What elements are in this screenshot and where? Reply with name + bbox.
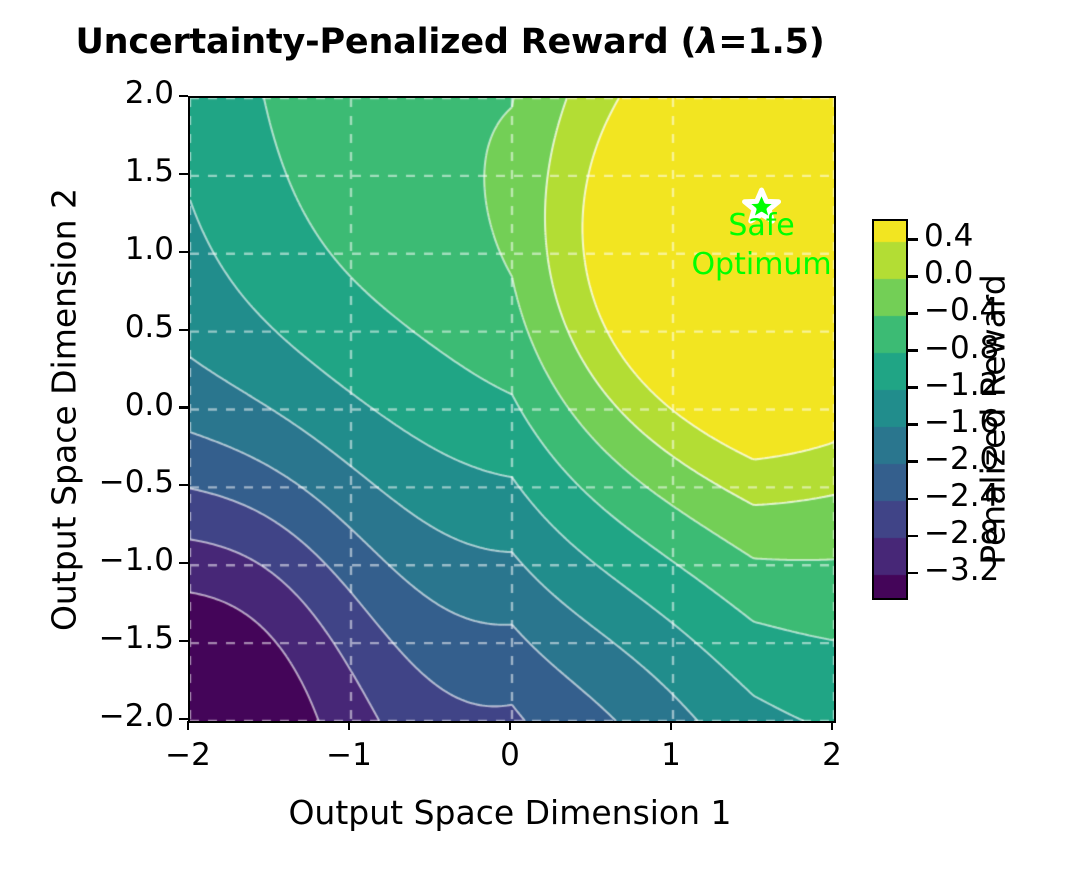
y-tick-mark	[179, 406, 188, 408]
x-tick-label: −1	[289, 737, 409, 773]
y-tick-mark	[179, 251, 188, 253]
y-tick-label: −1.5	[0, 620, 174, 656]
figure-canvas: Uncertainty-Penalized Reward (λ=1.5) Saf…	[0, 0, 1083, 874]
colorbar-label: Penalized Reward	[974, 140, 1013, 700]
x-tick-label: 0	[450, 737, 570, 773]
x-tick-label: 2	[772, 737, 892, 773]
colorbar-tick-mark	[908, 423, 918, 425]
annotation-line-2: Optimum	[612, 247, 836, 282]
chart-title: Uncertainty-Penalized Reward (λ=1.5)	[0, 22, 900, 62]
y-tick-mark	[179, 95, 188, 97]
colorbar	[872, 219, 908, 600]
colorbar-tick-mark	[908, 312, 918, 314]
y-axis-label: Output Space Dimension 2	[45, 90, 84, 730]
colorbar-gradient	[874, 221, 906, 598]
x-axis-label: Output Space Dimension 1	[188, 793, 832, 832]
y-tick-label: −0.5	[0, 464, 174, 500]
colorbar-tick-mark	[908, 275, 918, 277]
annotation-line-1: Safe	[612, 208, 836, 243]
y-tick-label: −2.0	[0, 698, 174, 734]
y-tick-mark	[179, 562, 188, 564]
x-tick-mark	[187, 721, 189, 730]
lambda-symbol: λ	[696, 22, 718, 62]
x-tick-label: 1	[611, 737, 731, 773]
colorbar-tick-mark	[908, 349, 918, 351]
y-tick-mark	[179, 329, 188, 331]
plot-axes: Safe Optimum	[188, 96, 836, 723]
y-tick-mark	[179, 718, 188, 720]
colorbar-tick-label: 0.0	[924, 255, 973, 291]
x-tick-label: −2	[128, 737, 248, 773]
x-tick-mark	[348, 721, 350, 730]
y-tick-label: 0.0	[0, 387, 174, 423]
y-tick-mark	[179, 173, 188, 175]
colorbar-tick-mark	[908, 386, 918, 388]
y-tick-mark	[179, 484, 188, 486]
colorbar-tick-label: 0.4	[924, 218, 973, 254]
colorbar-tick-mark	[908, 572, 918, 574]
y-tick-label: 1.5	[0, 153, 174, 189]
x-tick-mark	[831, 721, 833, 730]
title-prefix: Uncertainty-Penalized Reward (	[75, 22, 696, 62]
y-tick-mark	[179, 640, 188, 642]
colorbar-tick-mark	[908, 460, 918, 462]
y-tick-label: 0.5	[0, 309, 174, 345]
x-tick-mark	[509, 721, 511, 730]
colorbar-tick-mark	[908, 498, 918, 500]
colorbar-tick-mark	[908, 535, 918, 537]
y-tick-label: 2.0	[0, 75, 174, 111]
y-tick-label: 1.0	[0, 231, 174, 267]
colorbar-tick-mark	[908, 238, 918, 240]
contour-lines-and-grid	[190, 98, 834, 721]
x-tick-mark	[670, 721, 672, 730]
y-tick-label: −1.0	[0, 542, 174, 578]
title-suffix: =1.5)	[718, 22, 824, 62]
